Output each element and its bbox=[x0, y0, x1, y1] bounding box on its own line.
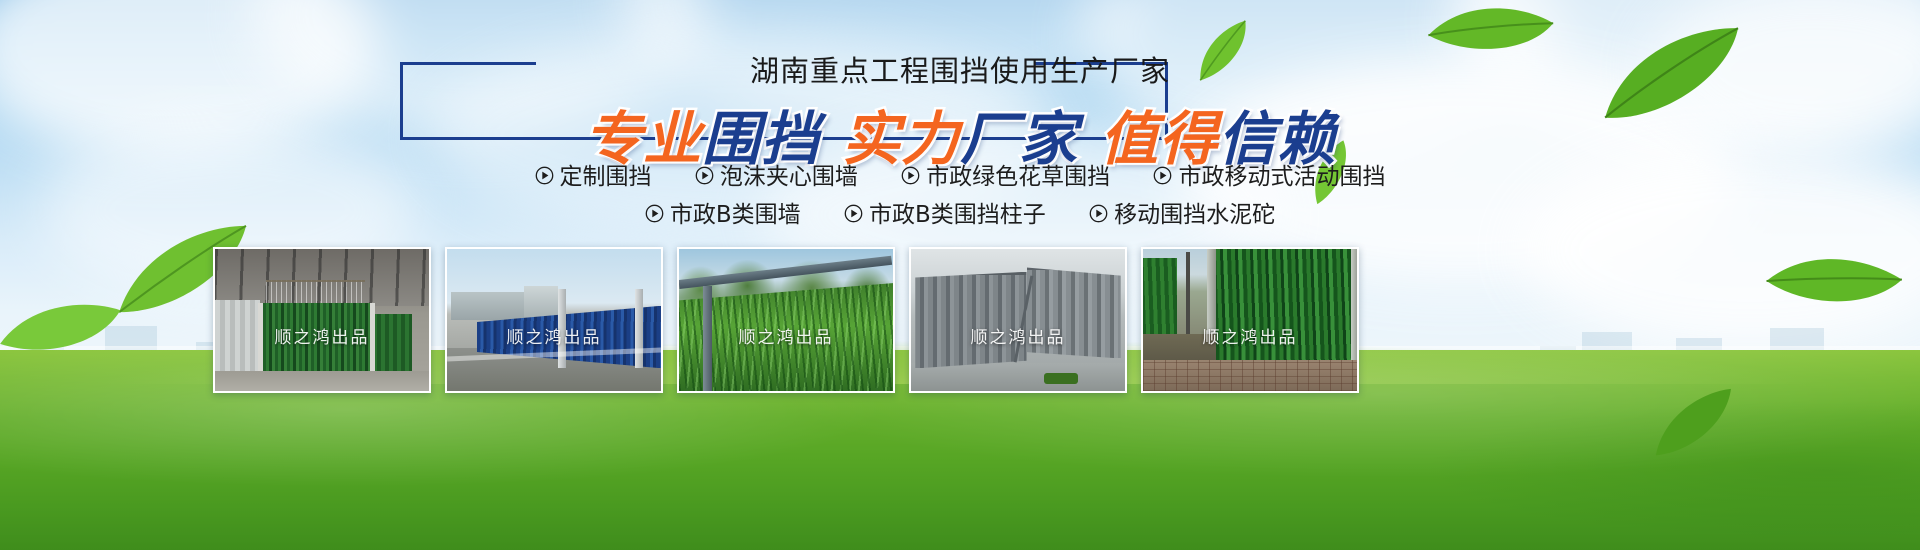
photo-detail bbox=[1044, 373, 1078, 384]
product-photo[interactable]: 顺之鸿出品 bbox=[445, 247, 663, 393]
photo-scene bbox=[447, 249, 661, 391]
bullet-item[interactable]: 市政绿色花草围挡 bbox=[901, 161, 1110, 192]
photo-detail bbox=[524, 286, 558, 320]
bullet-item[interactable]: 定制围挡 bbox=[535, 161, 652, 192]
bullet-item[interactable]: 市政B类围墙 bbox=[645, 199, 801, 230]
bullet-item[interactable]: 市政移动式活动围挡 bbox=[1153, 161, 1385, 192]
photo-detail bbox=[451, 292, 524, 320]
bullet-label: 市政B类围挡柱子 bbox=[869, 200, 1046, 230]
bullet-label: 市政B类围墙 bbox=[670, 200, 801, 230]
play-circle-icon bbox=[844, 204, 863, 223]
photo-detail bbox=[215, 371, 429, 391]
bullet-row-2: 市政B类围墙 市政B类围挡柱子 移动围挡水泥砣 bbox=[0, 199, 1920, 230]
leaf-decoration-icon bbox=[0, 294, 123, 364]
photo-detail bbox=[1351, 249, 1359, 371]
play-circle-icon bbox=[695, 166, 714, 185]
banner-subtitle: 湖南重点工程围挡使用生产厂家 bbox=[0, 48, 1920, 90]
photo-detail bbox=[1143, 334, 1216, 362]
bullet-item[interactable]: 泡沫夹心围墙 bbox=[695, 161, 858, 192]
banner-subtitle-text: 湖南重点工程围挡使用生产厂家 bbox=[736, 54, 1184, 88]
photo-detail bbox=[1027, 267, 1121, 358]
photo-detail bbox=[1216, 249, 1357, 368]
photo-detail bbox=[915, 272, 1026, 369]
photo-detail bbox=[911, 363, 1125, 391]
bullet-row-1: 定制围挡 泡沫夹心围墙 市政绿色花草围挡 bbox=[0, 161, 1920, 192]
play-circle-icon bbox=[901, 166, 920, 185]
photo-detail bbox=[266, 280, 364, 305]
play-circle-icon bbox=[1153, 166, 1172, 185]
bullet-item[interactable]: 移动围挡水泥砣 bbox=[1089, 199, 1275, 230]
photo-scene bbox=[679, 249, 893, 391]
product-photo[interactable]: 顺之鸿出品 bbox=[213, 247, 431, 393]
bullet-label: 泡沫夹心围墙 bbox=[720, 162, 858, 192]
photo-scene bbox=[215, 249, 429, 391]
photo-detail bbox=[1143, 360, 1357, 391]
product-photo[interactable]: 顺之鸿出品 bbox=[677, 247, 895, 393]
photo-detail bbox=[635, 289, 643, 369]
bullet-label: 定制围挡 bbox=[560, 162, 652, 192]
product-photo[interactable]: 顺之鸿出品 bbox=[909, 247, 1127, 393]
photo-detail bbox=[215, 300, 260, 374]
photo-detail bbox=[703, 286, 712, 391]
product-photo[interactable]: 顺之鸿出品 bbox=[1141, 247, 1359, 393]
play-circle-icon bbox=[1089, 204, 1108, 223]
play-circle-icon bbox=[645, 204, 664, 223]
play-circle-icon bbox=[535, 166, 554, 185]
bullet-label: 市政移动式活动围挡 bbox=[1178, 162, 1385, 192]
bullet-item[interactable]: 市政B类围挡柱子 bbox=[844, 199, 1046, 230]
photo-scene bbox=[1143, 249, 1357, 391]
product-photo-strip: 顺之鸿出品 顺之鸿出品 顺之鸿出品 bbox=[213, 247, 1353, 393]
promo-banner: 湖南重点工程围挡使用生产厂家 专业围挡实力厂家值得信赖 定制围挡 bbox=[0, 0, 1920, 550]
photo-scene bbox=[911, 249, 1125, 391]
product-bullet-list: 定制围挡 泡沫夹心围墙 市政绿色花草围挡 bbox=[0, 161, 1920, 230]
bullet-label: 市政绿色花草围挡 bbox=[926, 162, 1110, 192]
bullet-label: 移动围挡水泥砣 bbox=[1114, 200, 1275, 230]
